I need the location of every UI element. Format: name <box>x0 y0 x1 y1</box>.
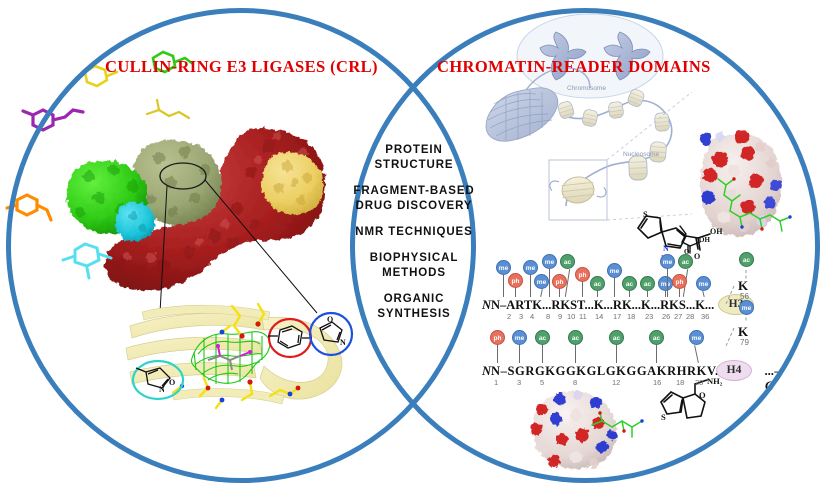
method-group-biophysical-methods: BIOPHYSICAL METHODS <box>351 251 477 281</box>
figure-canvas: N O O N <box>0 0 830 491</box>
shared-methods-list: PROTEIN STRUCTURE FRAGMENT-BASED DRUG DI… <box>351 143 477 333</box>
left-circle-title: CULLIN-RING E3 LIGASES (CRL) <box>105 57 378 77</box>
method-line: DRUG DISCOVERY <box>351 199 477 214</box>
method-group-protein-structure: PROTEIN STRUCTURE <box>351 143 477 173</box>
method-line: FRAGMENT-BASED <box>351 184 477 199</box>
method-group-nmr-techniques: NMR TECHNIQUES <box>351 225 477 240</box>
method-group-organic-synthesis: ORGANIC SYNTHESIS <box>351 292 477 322</box>
method-line: ORGANIC <box>351 292 477 307</box>
right-circle-title: CHROMATIN-READER DOMAINS <box>437 57 711 77</box>
method-line: SYNTHESIS <box>351 307 477 322</box>
method-line: NMR TECHNIQUES <box>351 225 477 240</box>
method-group-fragment-based-drug-discovery: FRAGMENT-BASED DRUG DISCOVERY <box>351 184 477 214</box>
method-line: METHODS <box>351 266 477 281</box>
method-line: PROTEIN <box>351 143 477 158</box>
method-line: BIOPHYSICAL <box>351 251 477 266</box>
method-line: STRUCTURE <box>351 158 477 173</box>
